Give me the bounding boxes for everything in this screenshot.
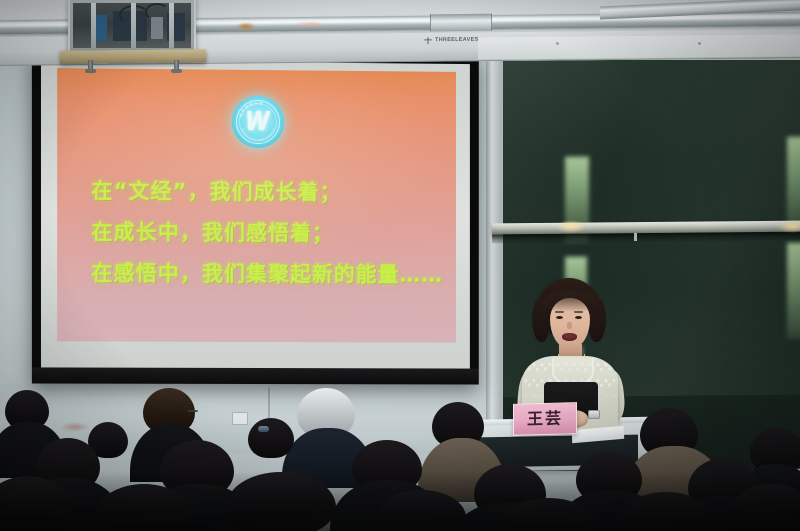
- threeleaves-logo-icon: [424, 36, 432, 44]
- audience-head: [248, 418, 294, 458]
- projector-mount-plate: [60, 49, 206, 64]
- light-reflection: [787, 137, 800, 229]
- presenter-nose: [567, 322, 572, 329]
- screen-brand: THREELEAVES: [424, 36, 479, 45]
- svg-text:山东财经大学: 山东财经大学: [236, 100, 263, 119]
- slide-line-2: 在成长中，我们感悟着；: [91, 222, 446, 245]
- presenter-eye-left: [556, 316, 563, 319]
- projector-cage-interior: [73, 3, 191, 48]
- projector-cable: [145, 3, 169, 21]
- eyeglasses-arm-icon: [188, 410, 198, 412]
- chalk-piece: [634, 233, 637, 241]
- valance-screw: [698, 42, 701, 45]
- screen-valance-right: [478, 34, 800, 59]
- cage-bar: [91, 3, 96, 48]
- projector-mount-foot: [85, 69, 96, 73]
- hair-clip: [258, 426, 269, 432]
- audience: [0, 380, 800, 531]
- svg-text:SHANDONG UNIVERSITY: SHANDONG UNIVERSITY: [239, 127, 275, 143]
- presenter-mouth: [562, 333, 577, 341]
- conduit-joint: [430, 14, 492, 32]
- rail-highlight: [778, 220, 800, 233]
- projector-mount-foot: [171, 69, 182, 73]
- cage-bar: [169, 3, 174, 48]
- light-reflection: [787, 243, 800, 339]
- cage-bar: [131, 3, 136, 48]
- slide-text-block: 在“文经”，我们成长着； 在成长中，我们感悟着； 在感悟中，我们集聚起新的能量……: [91, 181, 446, 306]
- valance-screw: [556, 42, 559, 45]
- projection-screen: 山东财经大学 SHANDONG UNIVERSITY W 在“文经”，我们成长着…: [32, 52, 479, 385]
- rail-highlight: [556, 220, 586, 233]
- emblem-arc-text: 山东财经大学 SHANDONG UNIVERSITY: [231, 96, 283, 148]
- presenter-eye-right: [575, 316, 582, 319]
- conduit-rust-spot: [236, 22, 256, 31]
- projection-screen-surface: 山东财经大学 SHANDONG UNIVERSITY W 在“文经”，我们成长着…: [41, 60, 470, 369]
- screen-brand-text: THREELEAVES: [435, 37, 479, 43]
- university-emblem-icon: 山东财经大学 SHANDONG UNIVERSITY W: [231, 96, 283, 148]
- slide-line-1: 在“文经”，我们成长着；: [91, 181, 446, 204]
- presenter-eyebrow-right: [574, 311, 583, 313]
- conduit-glint: [295, 21, 325, 27]
- projected-slide: 山东财经大学 SHANDONG UNIVERSITY W 在“文经”，我们成长着…: [57, 68, 456, 343]
- lecture-hall-photo: 王芸 山东财经大学 SHANDONG UNIVERSITY: [0, 0, 800, 531]
- slide-line-3: 在感悟中，我们集聚起新的能量……: [91, 263, 446, 286]
- projector-cage: [68, 0, 196, 53]
- presenter-eyebrow-left: [555, 311, 564, 313]
- presenter-fringe: [544, 290, 596, 312]
